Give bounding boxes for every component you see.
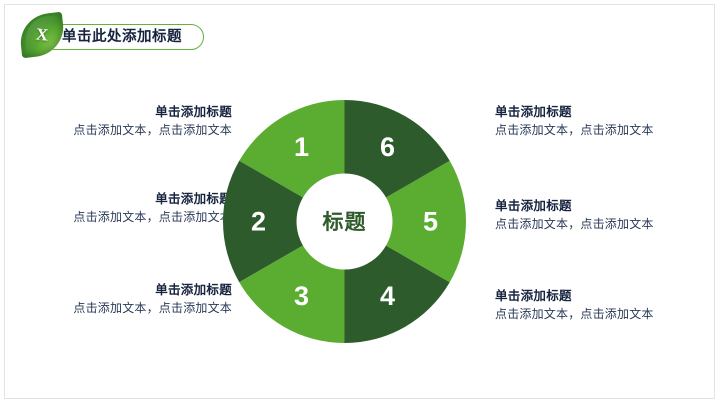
donut-segment-number-2: 2 [251, 207, 266, 237]
donut-segment-number-5: 5 [423, 207, 438, 237]
donut-segment-number-6: 6 [380, 132, 395, 162]
right-item-2-body: 点击添加文本，点击添加文本 [495, 215, 717, 234]
left-item-2-body: 点击添加文本，点击添加文本 [10, 208, 232, 227]
left-item-3-body: 点击添加文本，点击添加文本 [10, 299, 232, 318]
right-item-3[interactable]: 单击添加标题 点击添加文本，点击添加文本 [495, 287, 717, 324]
donut-center-label: 标题 [323, 210, 367, 234]
right-item-3-body: 点击添加文本，点击添加文本 [495, 305, 717, 324]
donut-segment-number-3: 3 [294, 281, 309, 311]
left-item-1[interactable]: 单击添加标题 点击添加文本，点击添加文本 [10, 103, 232, 140]
right-item-3-title: 单击添加标题 [495, 287, 717, 305]
slide-header: X 单击此处添加标题 [14, 10, 314, 52]
left-item-2-title: 单击添加标题 [10, 190, 232, 208]
left-item-1-title: 单击添加标题 [10, 103, 232, 121]
left-item-1-body: 点击添加文本，点击添加文本 [10, 121, 232, 140]
right-item-1-title: 单击添加标题 [495, 103, 717, 121]
six-segment-donut-diagram: 标题 123456 [223, 100, 466, 343]
donut-svg: 标题 123456 [223, 100, 466, 343]
right-item-1[interactable]: 单击添加标题 点击添加文本，点击添加文本 [495, 103, 717, 140]
left-item-3-title: 单击添加标题 [10, 281, 232, 299]
donut-segment-number-1: 1 [294, 132, 309, 162]
donut-segment-number-4: 4 [380, 281, 395, 311]
right-item-2-title: 单击添加标题 [495, 197, 717, 215]
left-item-2[interactable]: 单击添加标题 点击添加文本，点击添加文本 [10, 190, 232, 227]
right-item-2[interactable]: 单击添加标题 点击添加文本，点击添加文本 [495, 197, 717, 234]
page-title: 单击此处添加标题 [62, 27, 182, 47]
right-item-1-body: 点击添加文本，点击添加文本 [495, 121, 717, 140]
left-item-3[interactable]: 单击添加标题 点击添加文本，点击添加文本 [10, 281, 232, 318]
slide-canvas: X 单击此处添加标题 单击添加标题 点击添加文本，点击添加文本 单击添加标题 点… [0, 0, 721, 405]
